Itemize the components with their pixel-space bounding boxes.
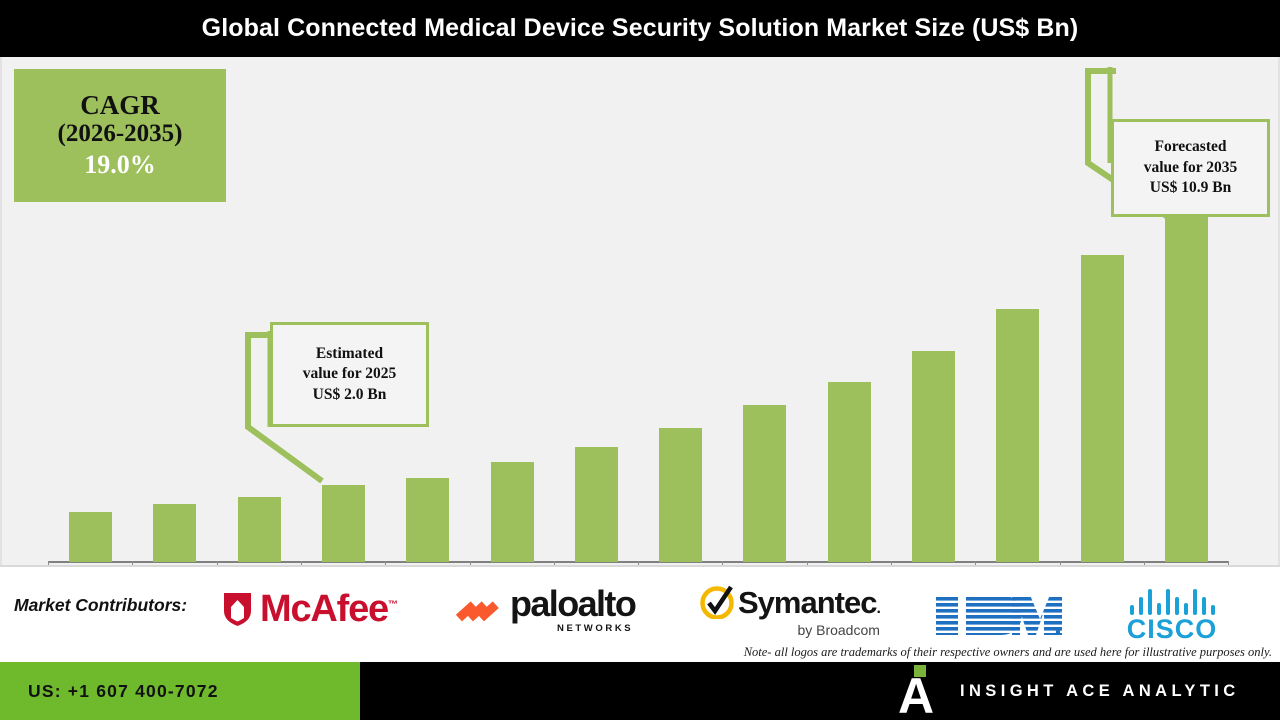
- bar-2025[interactable]: [322, 485, 365, 562]
- footer-contact: US: +1 607 400-7072: [0, 662, 360, 720]
- estimated-line-1: Estimated: [316, 344, 383, 365]
- bar-2023[interactable]: [153, 504, 196, 562]
- insightace-logo-icon: A: [898, 665, 938, 717]
- contributors-label: Market Contributors:: [14, 595, 187, 616]
- paloalto-subtext: NETWORKS: [557, 623, 633, 634]
- symantec-wordmark: Symantec.: [738, 587, 880, 618]
- forecast-line-3: US$ 10.9 Bn: [1150, 178, 1231, 199]
- brand-letter: A: [898, 676, 934, 717]
- bar-2033[interactable]: [996, 309, 1039, 562]
- bar-slot: [975, 117, 1059, 562]
- bar-2024[interactable]: [238, 497, 281, 562]
- logo-paloalto: paloalto NETWORKS: [456, 587, 635, 634]
- paloalto-chevron-icon: [456, 593, 502, 629]
- infographic-page: Global Connected Medical Device Security…: [0, 0, 1280, 720]
- cisco-bars-icon: [1110, 587, 1234, 615]
- symantec-subtext: by Broadcom: [700, 622, 880, 638]
- paloalto-wordmark-group: paloalto NETWORKS: [510, 587, 635, 634]
- estimated-line-2: value for 2025: [303, 364, 397, 385]
- forecast-line-1: Forecasted: [1154, 137, 1226, 158]
- mcafee-shield-icon: [222, 591, 253, 627]
- logo-mcafee: McAfee™: [222, 587, 397, 631]
- bar-2026[interactable]: [406, 478, 449, 562]
- bar-2031[interactable]: [828, 382, 871, 562]
- brand-name: INSIGHT ACE ANALYTIC: [960, 682, 1240, 701]
- bar-slot: [891, 117, 975, 562]
- bar-2032[interactable]: [912, 351, 955, 562]
- page-title: Global Connected Medical Device Security…: [202, 14, 1079, 43]
- forecast-line-2: value for 2035: [1144, 158, 1238, 179]
- bar-2027[interactable]: [491, 462, 534, 562]
- bar-series: [48, 117, 1228, 562]
- chart-panel: CAGR (2026-2035) 19.0% 2022 (A)2023 (A)2…: [0, 57, 1280, 565]
- bar-slot: [48, 117, 132, 562]
- cisco-wordmark: CISCO: [1110, 615, 1234, 643]
- bar-2029[interactable]: [659, 428, 702, 562]
- bar-2034[interactable]: [1081, 255, 1124, 562]
- logo-symantec: Symantec. by Broadcom: [700, 585, 880, 638]
- paloalto-wordmark: paloalto: [510, 587, 635, 621]
- symantec-checkmark-icon: [700, 585, 734, 619]
- estimated-line-3: US$ 2.0 Bn: [313, 385, 387, 406]
- bar-slot: [554, 117, 638, 562]
- bar-slot: [638, 117, 722, 562]
- ibm-striped-wordmark: [936, 591, 1062, 639]
- estimated-value-callout: Estimated value for 2025 US$ 2.0 Bn: [270, 322, 429, 427]
- bar-slot: [807, 117, 891, 562]
- title-bar: Global Connected Medical Device Security…: [0, 0, 1280, 57]
- contributors-band: Market Contributors: McAfee™: [0, 565, 1280, 662]
- brand-square-accent: [914, 665, 926, 677]
- bar-slot: [722, 117, 806, 562]
- logo-cisco: CISCO: [1110, 587, 1234, 643]
- bar-2028[interactable]: [575, 447, 618, 562]
- bar-2030[interactable]: [743, 405, 786, 562]
- bar-slot: [470, 117, 554, 562]
- brand-lockup: A INSIGHT ACE ANALYTIC: [898, 662, 1240, 720]
- bar-slot: [132, 117, 216, 562]
- footer-bar: US: +1 607 400-7072 A INSIGHT ACE ANALYT…: [0, 662, 1280, 720]
- mcafee-wordmark: McAfee™: [260, 590, 397, 628]
- footer-phone-number[interactable]: US: +1 607 400-7072: [28, 681, 219, 702]
- trademark-note: Note- all logos are trademarks of their …: [744, 645, 1272, 660]
- forecast-value-callout: Forecasted value for 2035 US$ 10.9 Bn: [1111, 119, 1270, 217]
- logo-ibm: [936, 591, 1062, 639]
- cagr-label: CAGR: [80, 91, 160, 120]
- bar-2022[interactable]: [69, 512, 112, 562]
